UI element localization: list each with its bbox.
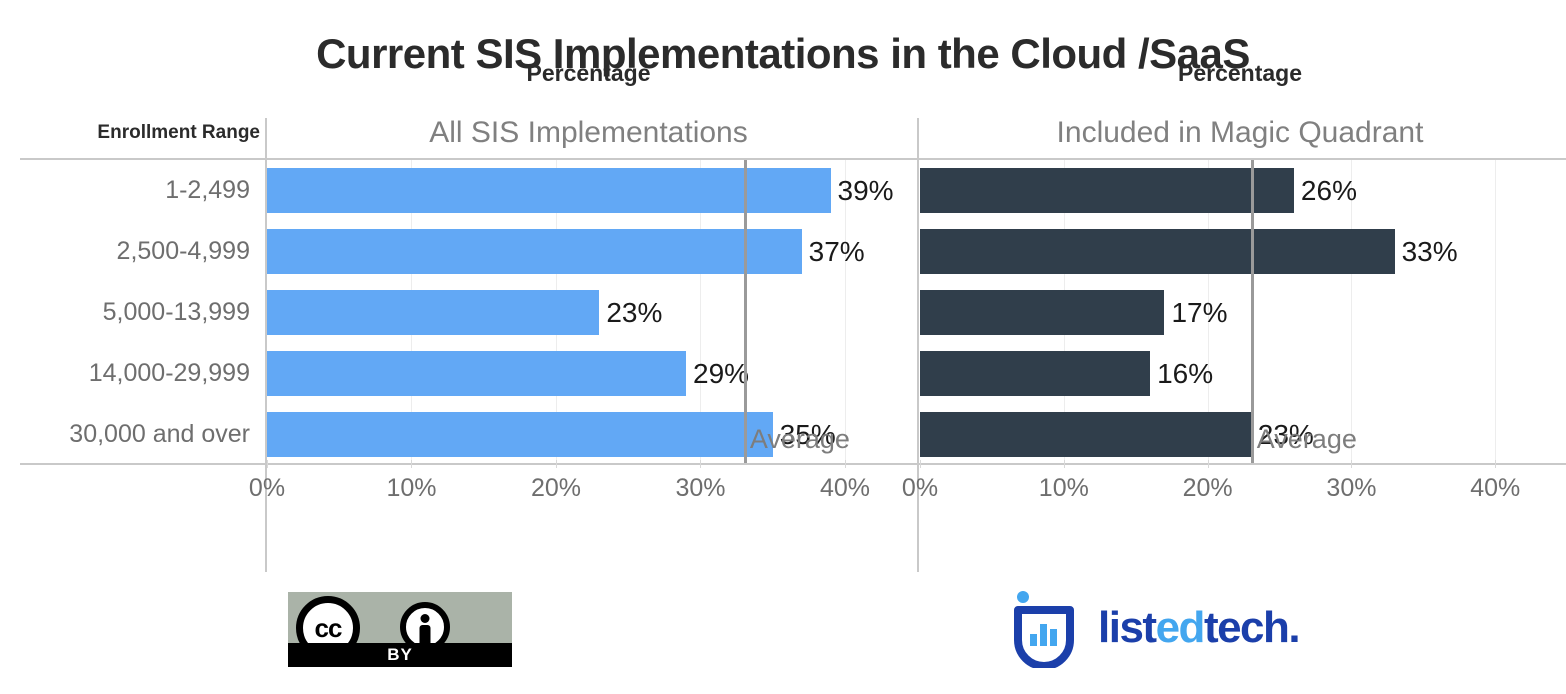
bar[interactable] bbox=[267, 412, 773, 457]
x-axis-title-left: Percentage bbox=[267, 60, 910, 87]
bar-value-label: 23% bbox=[599, 290, 662, 335]
category-label: 5,000-13,999 bbox=[0, 282, 250, 343]
listedtech-wordmark: listedtech. bbox=[1098, 606, 1299, 650]
x-tick-label: 30% bbox=[1326, 474, 1376, 503]
person-body-icon bbox=[420, 625, 431, 643]
bar-row: 29% bbox=[267, 343, 910, 404]
x-tick-mark bbox=[267, 460, 268, 468]
x-tick-label: 20% bbox=[1183, 474, 1233, 503]
x-axis-right: 0%10%20%30%40% bbox=[920, 466, 1560, 506]
logo-text-part-2: ed bbox=[1156, 603, 1204, 652]
category-label: 30,000 and over bbox=[0, 404, 250, 465]
x-tick-label: 0% bbox=[249, 474, 285, 503]
x-tick-mark bbox=[1351, 460, 1352, 468]
category-label: 14,000-29,999 bbox=[0, 343, 250, 404]
bar[interactable] bbox=[267, 351, 686, 396]
bar-value-label: 33% bbox=[1395, 229, 1458, 274]
bar-row: 39% bbox=[267, 160, 910, 221]
category-label: 2,500-4,999 bbox=[0, 221, 250, 282]
logo-text-part-1: list bbox=[1098, 603, 1156, 652]
bar[interactable] bbox=[267, 290, 599, 335]
bar-value-label: 26% bbox=[1294, 168, 1357, 213]
header-panel-all-sis: All SIS Implementations bbox=[267, 116, 910, 150]
x-tick-mark bbox=[556, 460, 557, 468]
average-line-label: Average bbox=[744, 424, 850, 455]
bar-value-label: 39% bbox=[831, 168, 894, 213]
bar[interactable] bbox=[920, 290, 1164, 335]
x-tick-label: 40% bbox=[1470, 474, 1520, 503]
x-tick-label: 30% bbox=[675, 474, 725, 503]
bar[interactable] bbox=[267, 229, 802, 274]
cc-by-label: BY bbox=[288, 644, 512, 666]
average-line-label: Average bbox=[1251, 424, 1357, 455]
bar-row: 17% bbox=[920, 282, 1560, 343]
x-tick-mark bbox=[1495, 460, 1496, 468]
x-tick-mark bbox=[1208, 460, 1209, 468]
x-tick-mark bbox=[845, 460, 846, 468]
x-tick-mark bbox=[700, 460, 701, 468]
chart-panel-magic-quadrant: 26%33%17%16%23%Average bbox=[920, 160, 1560, 463]
average-reference-line bbox=[1251, 160, 1254, 463]
bar-row: 16% bbox=[920, 343, 1560, 404]
creative-commons-by-badge: cc BY bbox=[288, 592, 512, 667]
x-tick-label: 40% bbox=[820, 474, 870, 503]
bar[interactable] bbox=[920, 168, 1294, 213]
header-enrollment-range: Enrollment Range bbox=[97, 122, 260, 144]
logo-text-part-3: tech. bbox=[1204, 603, 1299, 652]
header-panel-magic-quadrant: Included in Magic Quadrant bbox=[920, 116, 1560, 150]
chart-panel-all-sis: 39%37%23%29%35%Average bbox=[267, 160, 910, 463]
column-header-band: Enrollment Range All SIS Implementations… bbox=[0, 116, 1566, 158]
bar[interactable] bbox=[920, 351, 1150, 396]
listedtech-logo: listedtech. bbox=[1010, 588, 1299, 668]
average-reference-line bbox=[744, 160, 747, 463]
x-tick-label: 10% bbox=[1039, 474, 1089, 503]
person-head-icon bbox=[421, 614, 430, 623]
bar-row: 26% bbox=[920, 160, 1560, 221]
category-label: 1-2,499 bbox=[0, 160, 250, 221]
bar-value-label: 29% bbox=[686, 351, 749, 396]
x-tick-mark bbox=[1064, 460, 1065, 468]
bar-row: 23% bbox=[267, 282, 910, 343]
x-axis-left: 0%10%20%30%40% bbox=[267, 466, 910, 506]
bar-row: 23% bbox=[920, 404, 1560, 465]
x-axis-title-right: Percentage bbox=[920, 60, 1560, 87]
panel-separator-right bbox=[917, 118, 919, 572]
x-tick-label: 0% bbox=[902, 474, 938, 503]
x-tick-label: 10% bbox=[386, 474, 436, 503]
listedtech-shield-icon bbox=[1010, 588, 1088, 668]
bar[interactable] bbox=[920, 412, 1251, 457]
bar-row: 33% bbox=[920, 221, 1560, 282]
x-tick-label: 20% bbox=[531, 474, 581, 503]
bar-value-label: 17% bbox=[1164, 290, 1227, 335]
bar-value-label: 16% bbox=[1150, 351, 1213, 396]
bar-value-label: 37% bbox=[802, 229, 865, 274]
bar[interactable] bbox=[920, 229, 1395, 274]
bar-row: 37% bbox=[267, 221, 910, 282]
x-tick-mark bbox=[920, 460, 921, 468]
x-tick-mark bbox=[411, 460, 412, 468]
